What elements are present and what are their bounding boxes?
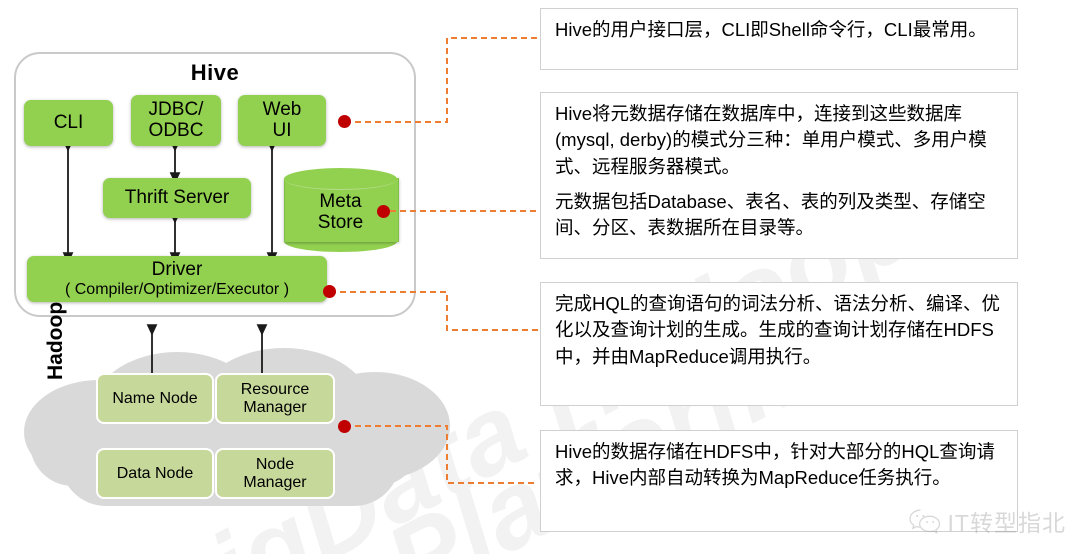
callout-meta-store-p1: Hive将元数据存储在数据库中，连接到这些数据库(mysql, derby)的模… [555,101,1005,180]
callout-driver-p1: 完成HQL的查询语句的词法分析、语法分析、编译、优化以及查询计划的生成。生成的查… [555,291,1005,370]
jdbc-label-line2: ODBC [149,121,204,142]
hive-component-jdbc-odbc[interactable]: JDBC/ ODBC [131,95,221,146]
webui-label-line1: Web [263,100,302,121]
cli-label: CLI [54,113,84,134]
wechat-account-name: IT转型指北 [948,504,1066,538]
wechat-icon [908,507,942,535]
hive-component-thrift-server[interactable]: Thrift Server [103,178,251,218]
driver-label-line1: Driver [152,260,203,281]
hive-component-web-ui[interactable]: Web UI [238,95,326,146]
resource-manager-line2: Manager [243,399,306,417]
node-manager-line2: Manager [243,474,306,492]
connector-dot-meta-store [377,205,390,218]
meta-store-line2: Store [318,212,363,233]
callout-driver: 完成HQL的查询语句的词法分析、语法分析、编译、优化以及查询计划的生成。生成的查… [540,282,1018,406]
connector-dot-web-ui [338,115,351,128]
resource-manager-line1: Resource [241,381,309,399]
connector-dot-hadoop [338,420,351,433]
hadoop-node-name-node[interactable]: Name Node [96,373,214,424]
webui-label-line2: UI [273,121,292,142]
callout-meta-store: Hive将元数据存储在数据库中，连接到这些数据库(mysql, derby)的模… [540,92,1018,259]
callout-ui-layer: Hive的用户接口层，CLI即Shell命令行，CLI最常用。 [540,8,1018,70]
callout-meta-store-p2: 元数据包括Database、表名、表的列及类型、存储空间、分区、表数据所在目录等… [555,189,1005,242]
name-node-line1: Name Node [112,390,197,408]
hadoop-title: Hadoop [44,302,68,380]
hadoop-node-node-manager[interactable]: Node Manager [215,448,335,499]
callout-storage-p1: Hive的数据存储在HDFS中，针对大部分的HQL查询请求，Hive内部自动转换… [555,439,1005,492]
data-node-line1: Data Node [117,465,194,483]
driver-label-line2: ( Compiler/Optimizer/Executor ) [65,281,289,299]
jdbc-label-line1: JDBC/ [149,100,204,121]
thrift-server-label: Thrift Server [125,188,230,209]
hadoop-node-data-node[interactable]: Data Node [96,448,214,499]
hive-title: Hive [0,60,430,86]
hive-component-driver[interactable]: Driver ( Compiler/Optimizer/Executor ) [27,256,327,302]
meta-store-line1: Meta [319,191,361,212]
wechat-brand-badge: IT转型指北 [908,504,1066,538]
connector-dot-driver [323,285,336,298]
hadoop-node-resource-manager[interactable]: Resource Manager [215,373,335,424]
node-manager-line1: Node [256,456,294,474]
callout-ui-layer-p1: Hive的用户接口层，CLI即Shell命令行，CLI最常用。 [555,17,1005,43]
hive-component-cli[interactable]: CLI [24,100,113,146]
